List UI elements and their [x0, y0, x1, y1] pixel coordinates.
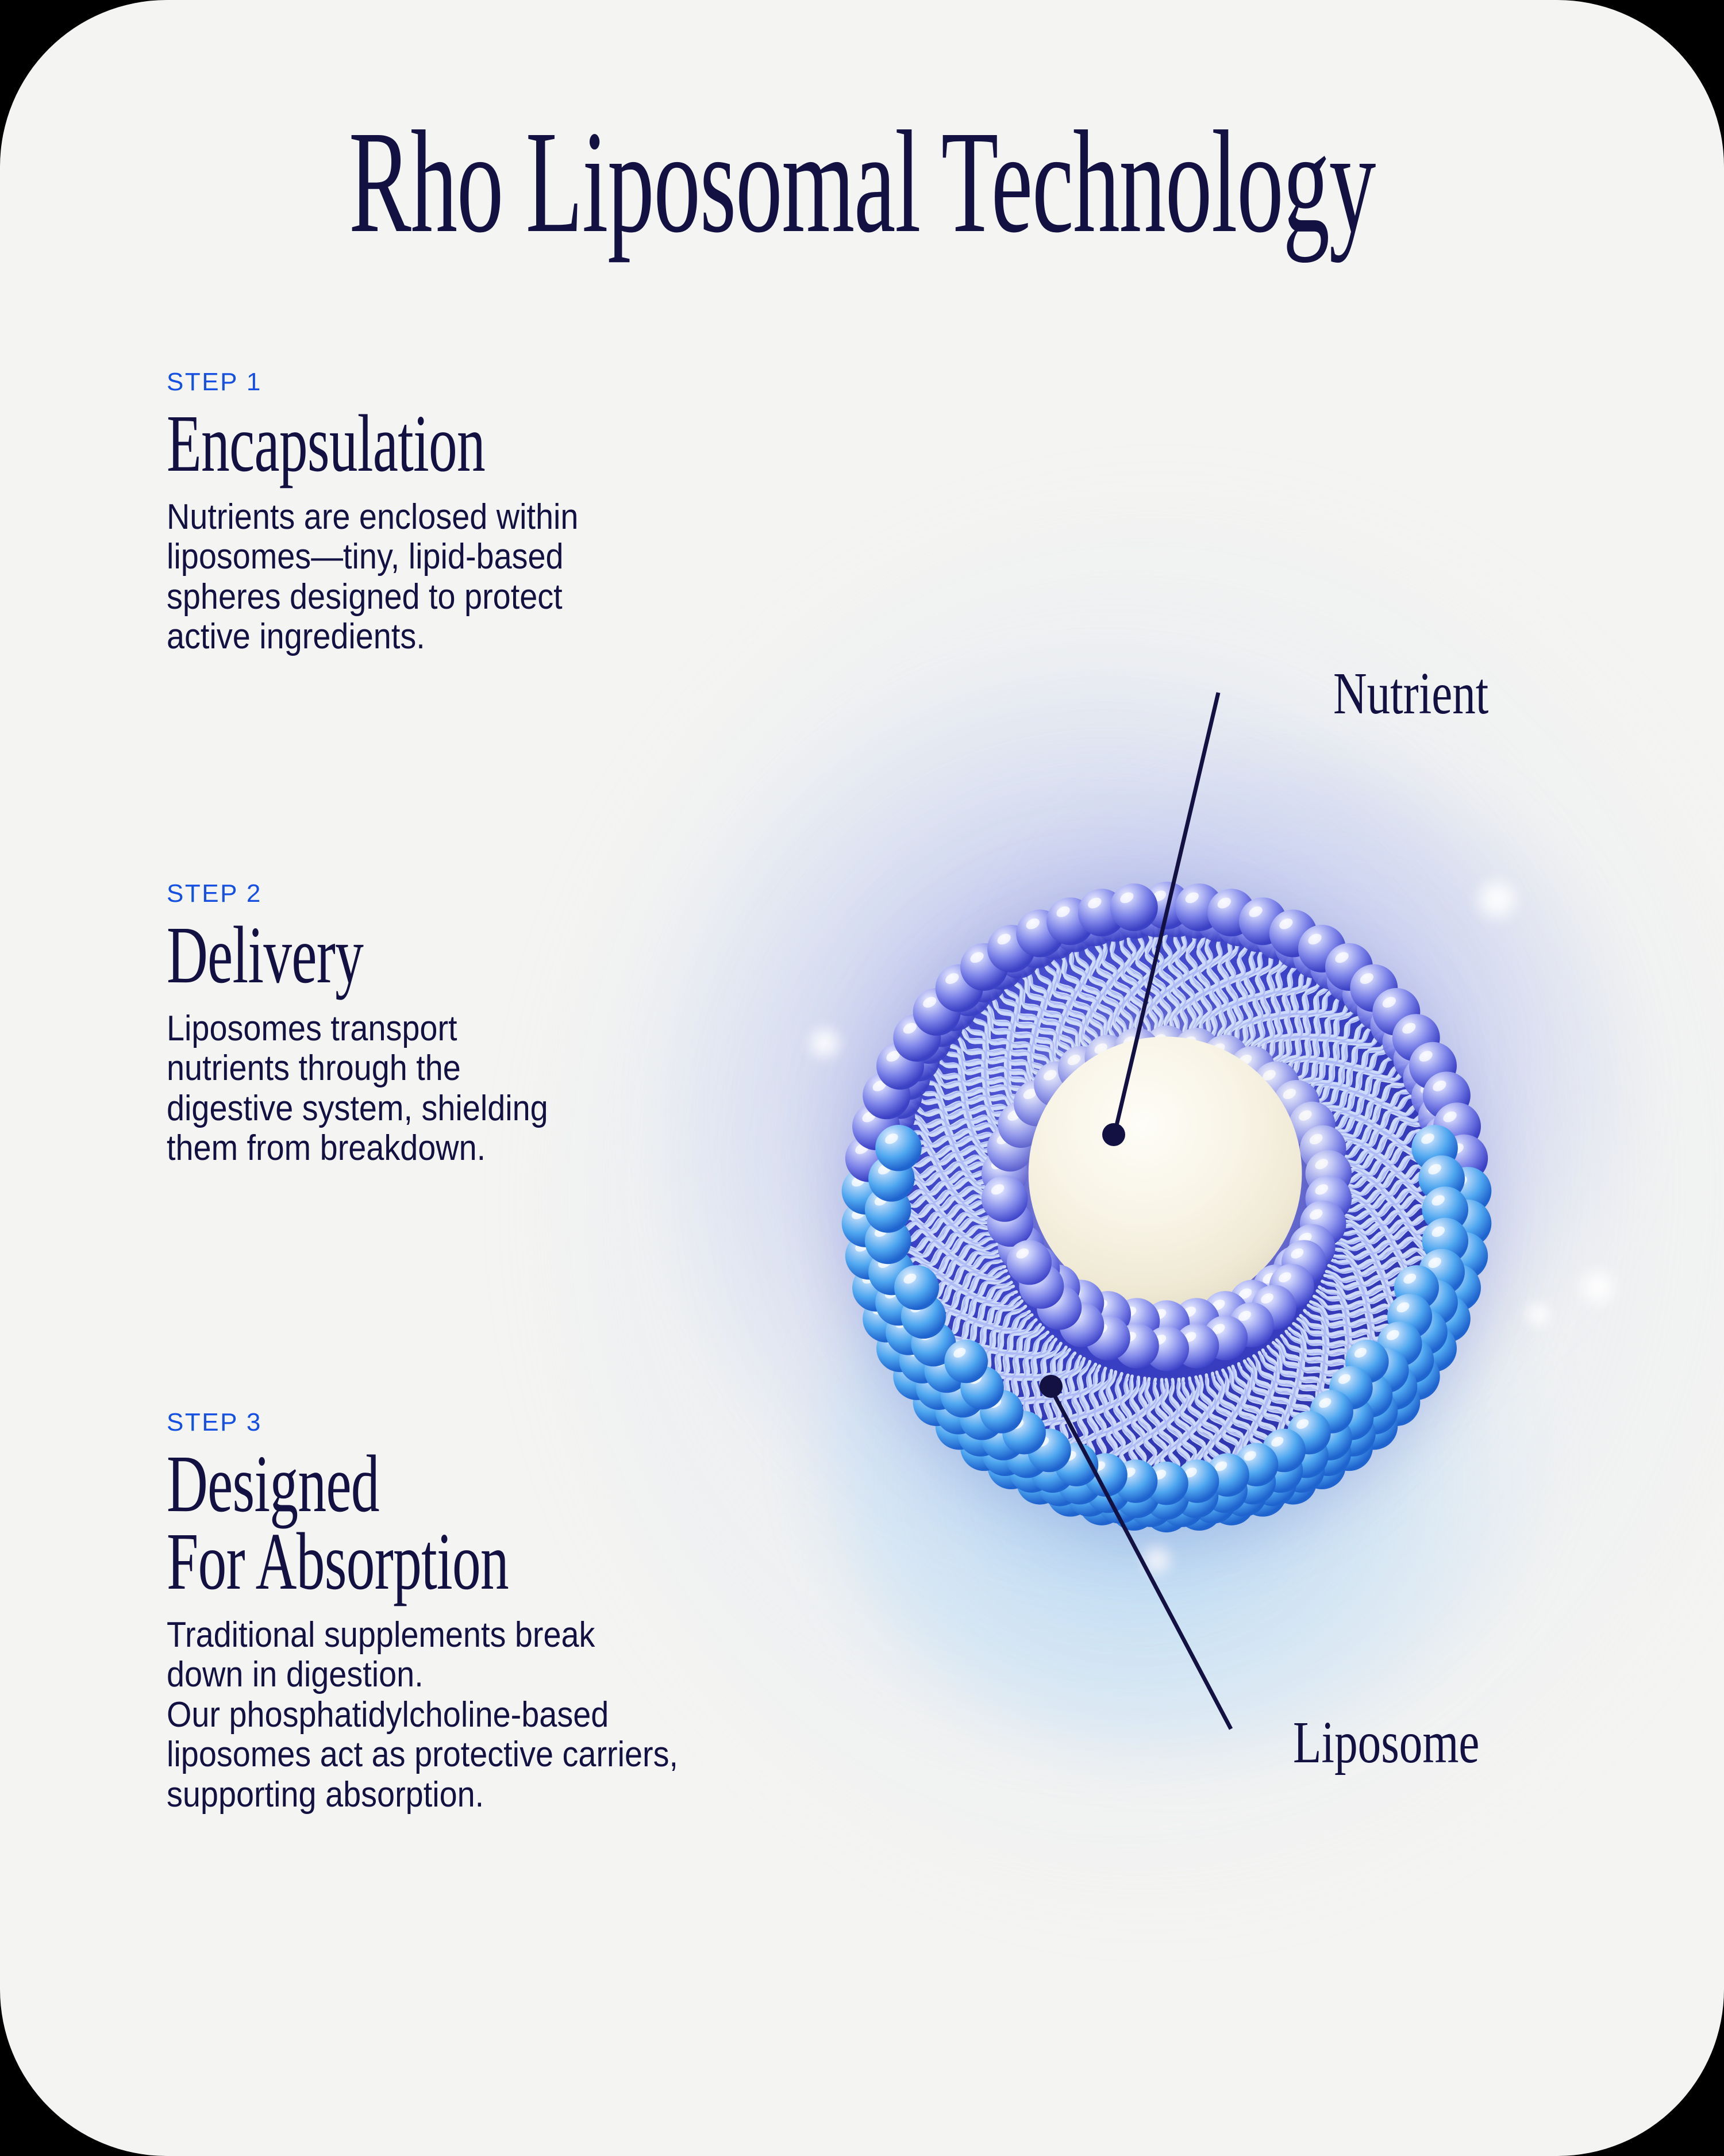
step-1-kicker: STEP 1: [167, 368, 810, 397]
step-3-block: STEP 3 Designed For Absorption Tradition…: [167, 1408, 810, 1815]
callout-label-liposome: Liposome: [1293, 1713, 1479, 1773]
step-2-heading: Delivery: [167, 916, 617, 994]
step-2-kicker: STEP 2: [167, 879, 810, 908]
page-title: Rho Liposomal Technology: [310, 109, 1414, 256]
sparkle-icon: [1575, 1265, 1621, 1310]
sparkle-icon: [1523, 1299, 1554, 1330]
step-1-block: STEP 1 Encapsulation Nutrients are enclo…: [167, 368, 810, 657]
callout-label-nutrient: Nutrient: [1333, 664, 1488, 724]
step-3-heading: Designed For Absorption: [167, 1445, 617, 1600]
step-2-block: STEP 2 Delivery Liposomes transport nutr…: [167, 879, 810, 1169]
liposome-cutaway-illustration: [816, 856, 1517, 1558]
technology-card: Rho Liposomal Technology STEP 1 Encapsul…: [0, 0, 1724, 2156]
step-3-kicker: STEP 3: [167, 1408, 810, 1437]
step-2-body: Liposomes transport nutrients through th…: [167, 1009, 746, 1169]
step-3-body: Traditional supplements break down in di…: [167, 1615, 746, 1815]
step-1-body: Nutrients are enclosed within liposomes—…: [167, 497, 746, 657]
step-1-heading: Encapsulation: [167, 405, 617, 482]
